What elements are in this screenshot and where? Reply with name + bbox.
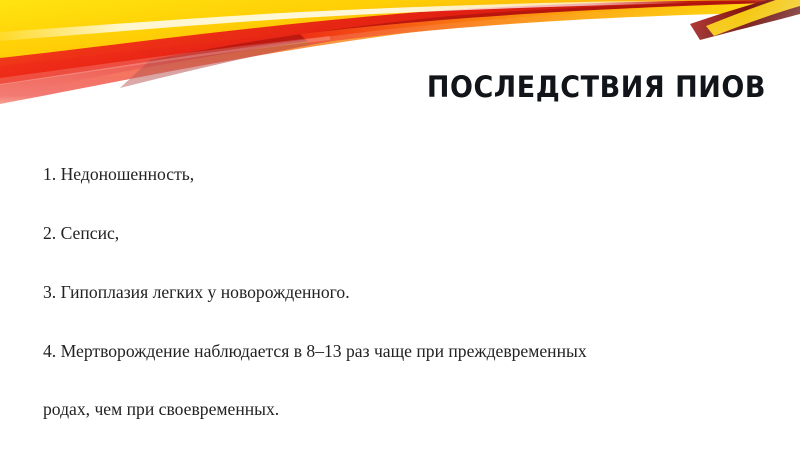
presentation-slide: ПОСЛЕДСТВИЯ ПИОВ 1. Недоношенность, 2. С… <box>0 0 800 450</box>
wave-yellow-sliver <box>706 0 800 36</box>
list-item: 3. Гипоплазия легких у новорожденного. <box>43 283 758 303</box>
wave-white-highlight <box>0 0 690 41</box>
list-item-continuation: родах, чем при своевременных. <box>43 400 758 420</box>
list-item: 2. Сепсис, <box>43 224 758 244</box>
wave-maroon-accent <box>690 0 800 40</box>
page-title: ПОСЛЕДСТВИЯ ПИОВ <box>54 70 766 104</box>
consequences-list: 1. Недоношенность, 2. Сепсис, 3. Гипопла… <box>43 126 758 450</box>
list-item: 1. Недоношенность, <box>43 165 758 185</box>
wave-tail-ribbon <box>300 2 800 44</box>
wave-yellow-band <box>0 0 800 66</box>
list-item: 4. Мертворождение наблюдается в 8–13 раз… <box>43 342 758 362</box>
